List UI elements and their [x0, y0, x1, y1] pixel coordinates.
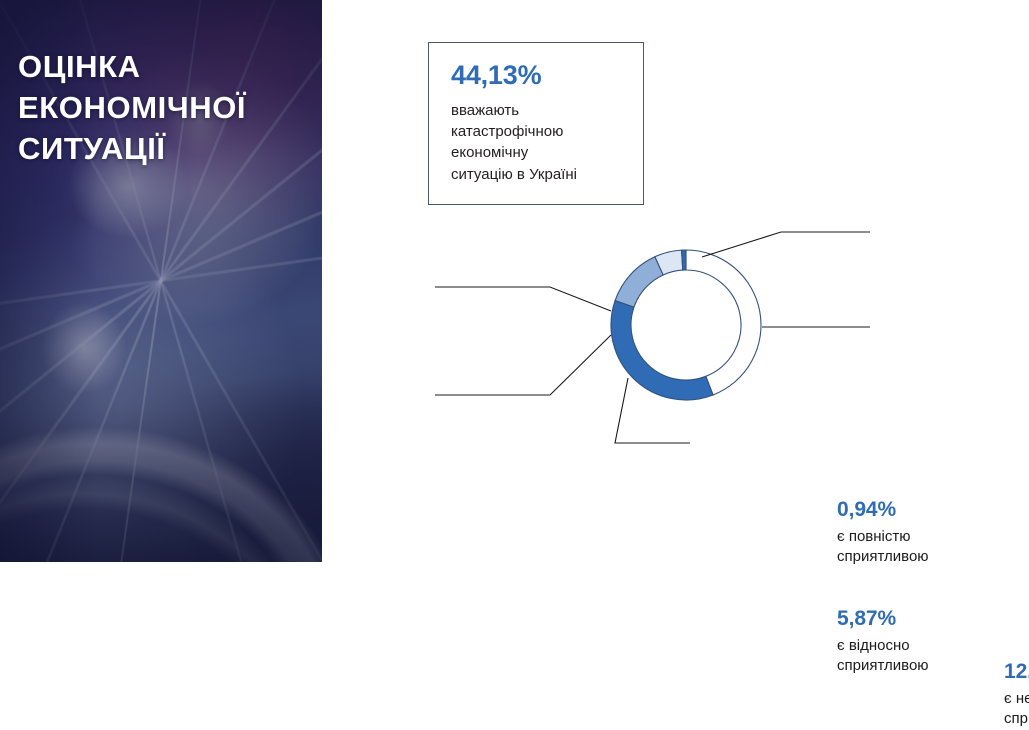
label-not-very-favorable-text: є не дуже сприятливою	[1004, 689, 1029, 730]
label-fully-favorable: 0,94% є повністю сприятливою	[837, 498, 929, 568]
donut-chart: 44,13% є катастрофічною 36,15% не є спри…	[400, 215, 1020, 555]
leader-line	[435, 335, 611, 395]
leader-line	[702, 232, 870, 257]
label-not-very-favorable: 12,91% є не дуже сприятливою	[1004, 660, 1029, 730]
label-relatively-favorable-value: 5,87%	[837, 607, 929, 631]
label-relatively-favorable-text: є відносно сприятливою	[837, 636, 929, 677]
donut-slice[interactable]	[682, 250, 686, 270]
donut-slice[interactable]	[615, 257, 663, 307]
callout-value: 44,13%	[451, 61, 629, 91]
donut-slice[interactable]	[686, 250, 761, 395]
slide-title: ОЦІНКА ЕКОНОМІЧНОЇ СИТУАЦІЇ	[18, 46, 318, 170]
donut-slices	[611, 250, 761, 400]
leader-line	[435, 287, 611, 311]
label-fully-favorable-value: 0,94%	[837, 498, 929, 522]
label-relatively-favorable: 5,87% є відносно сприятливою	[837, 607, 929, 677]
label-not-very-favorable-value: 12,91%	[1004, 660, 1029, 684]
callout-box: 44,13% вважають катастрофічною економічн…	[428, 42, 644, 205]
photo-panel: ОЦІНКА ЕКОНОМІЧНОЇ СИТУАЦІЇ	[0, 0, 322, 562]
callout-description: вважають катастрофічною економічну ситуа…	[451, 100, 629, 185]
